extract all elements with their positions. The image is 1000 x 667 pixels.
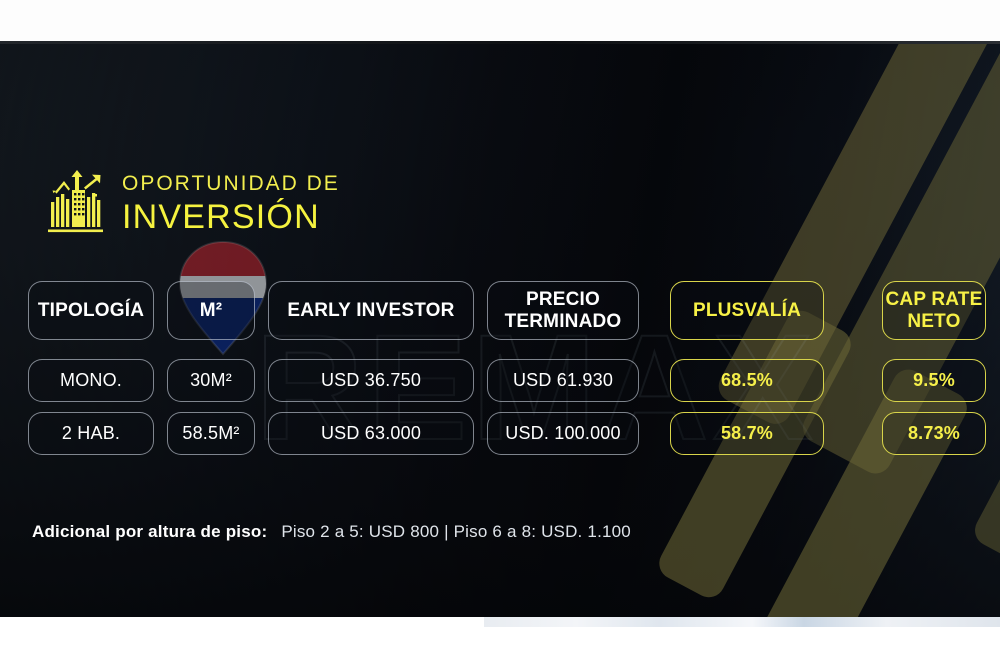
header-cap-line-2: NETO: [886, 311, 983, 332]
cell-m2: 58.5M²: [167, 412, 255, 455]
header-precio-line-1: PRECIO: [505, 289, 622, 310]
brand-title-line-1: OPORTUNIDAD DE: [122, 173, 340, 194]
cell-precio-terminado: USD. 100.000: [487, 412, 639, 455]
cell-precio-terminado: USD 61.930: [487, 359, 639, 402]
header-cap-line-1: CAP RATE: [886, 289, 983, 310]
note-label: Adicional por altura de piso:: [32, 522, 267, 542]
bottom-white-margin: [0, 627, 1000, 667]
header-cell-early-investor: EARLY INVESTOR: [268, 281, 474, 340]
table-header-row: TIPOLOGÍA M² EARLY INVESTOR PRECIO TERMI…: [0, 281, 999, 340]
header-cell-plusvalia: PLUSVALÍA: [670, 281, 824, 340]
floor-height-note: Adicional por altura de piso: Piso 2 a 5…: [32, 522, 631, 542]
header-cell-m2: M²: [167, 281, 255, 340]
cell-tipologia: MONO.: [28, 359, 154, 402]
cell-early-investor: USD 36.750: [268, 359, 474, 402]
cell-cap-rate-neto: 8.73%: [882, 412, 986, 455]
header-cell-tipologia: TIPOLOGÍA: [28, 281, 154, 340]
table-row: MONO. 30M² USD 36.750 USD 61.930 68.5% 9…: [0, 359, 999, 402]
cell-early-investor: USD 63.000: [268, 412, 474, 455]
header-cell-precio-terminado: PRECIO TERMINADO: [487, 281, 639, 340]
growth-buildings-icon: [48, 170, 106, 236]
investment-slide: REMAX: [0, 44, 1000, 617]
cell-m2: 30M²: [167, 359, 255, 402]
header-cell-cap-rate-neto: CAP RATE NETO: [882, 281, 986, 340]
brand-header: OPORTUNIDAD DE INVERSIÓN: [48, 170, 340, 236]
cell-plusvalia: 58.7%: [670, 412, 824, 455]
header-precio-line-2: TERMINADO: [505, 311, 622, 332]
cell-cap-rate-neto: 9.5%: [882, 359, 986, 402]
brand-title-group: OPORTUNIDAD DE INVERSIÓN: [122, 173, 340, 234]
bottom-photo-strip: [484, 617, 1000, 627]
table-row: 2 HAB. 58.5M² USD 63.000 USD. 100.000 58…: [0, 412, 999, 455]
brand-title-line-2: INVERSIÓN: [122, 200, 340, 234]
cell-plusvalia: 68.5%: [670, 359, 824, 402]
note-value: Piso 2 a 5: USD 800 | Piso 6 a 8: USD. 1…: [281, 522, 631, 542]
top-white-margin: [0, 0, 1000, 41]
slide-canvas: REMAX: [0, 0, 1000, 667]
cell-tipologia: 2 HAB.: [28, 412, 154, 455]
